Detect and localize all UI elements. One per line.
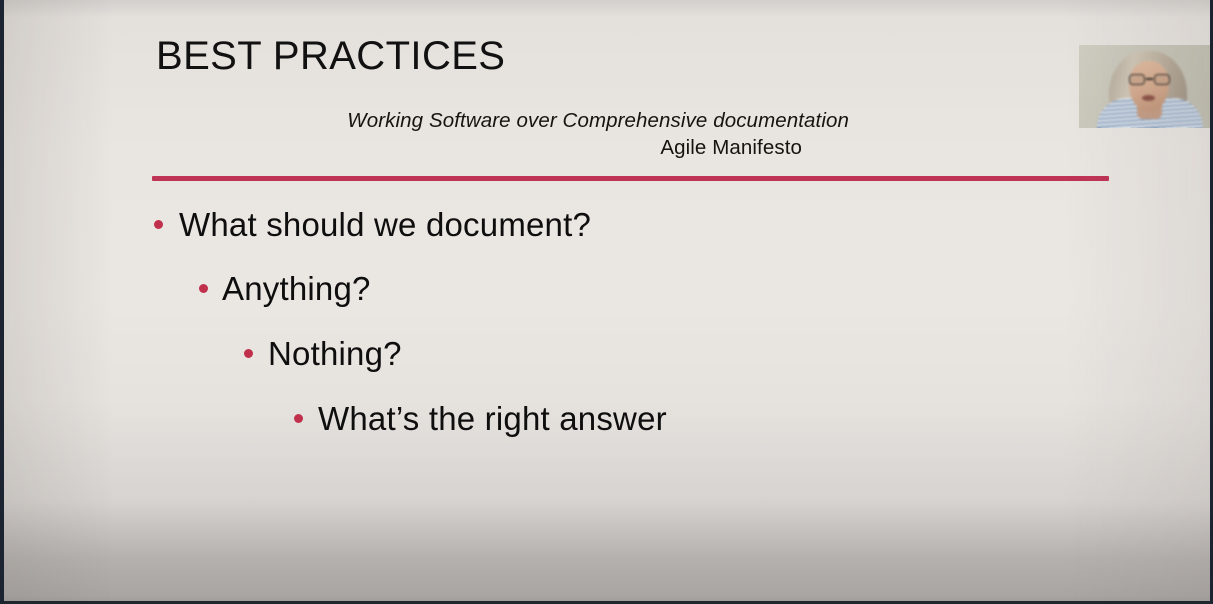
presentation-slide: BEST PRACTICES Working Software over Com… — [0, 0, 1213, 604]
list-item: What should we document? — [154, 206, 1054, 270]
subtitle-attribution: Agile Manifesto — [154, 134, 849, 161]
subtitle-quote: Working Software over Comprehensive docu… — [154, 108, 849, 134]
page-title: BEST PRACTICES — [156, 32, 505, 80]
list-item-label: Anything? — [222, 270, 371, 308]
list-item: Anything? — [199, 270, 1054, 335]
bullet-dot-icon — [199, 284, 208, 293]
list-item-label: Nothing? — [268, 335, 402, 373]
list-item-label: What’s the right answer — [318, 400, 667, 438]
bullet-dot-icon — [154, 220, 163, 229]
accent-divider — [152, 176, 1109, 181]
webcam-blur-overlay — [1079, 45, 1213, 128]
list-item-label: What should we document? — [179, 206, 591, 244]
bullet-list: What should we document? Anything? Nothi… — [154, 206, 1054, 465]
bullet-dot-icon — [294, 414, 303, 423]
list-item: What’s the right answer — [294, 400, 1054, 465]
presenter-webcam-video[interactable] — [1079, 45, 1213, 128]
slide-subtitle: Working Software over Comprehensive docu… — [154, 108, 849, 161]
bullet-dot-icon — [244, 349, 253, 358]
list-item: Nothing? — [244, 335, 1054, 400]
